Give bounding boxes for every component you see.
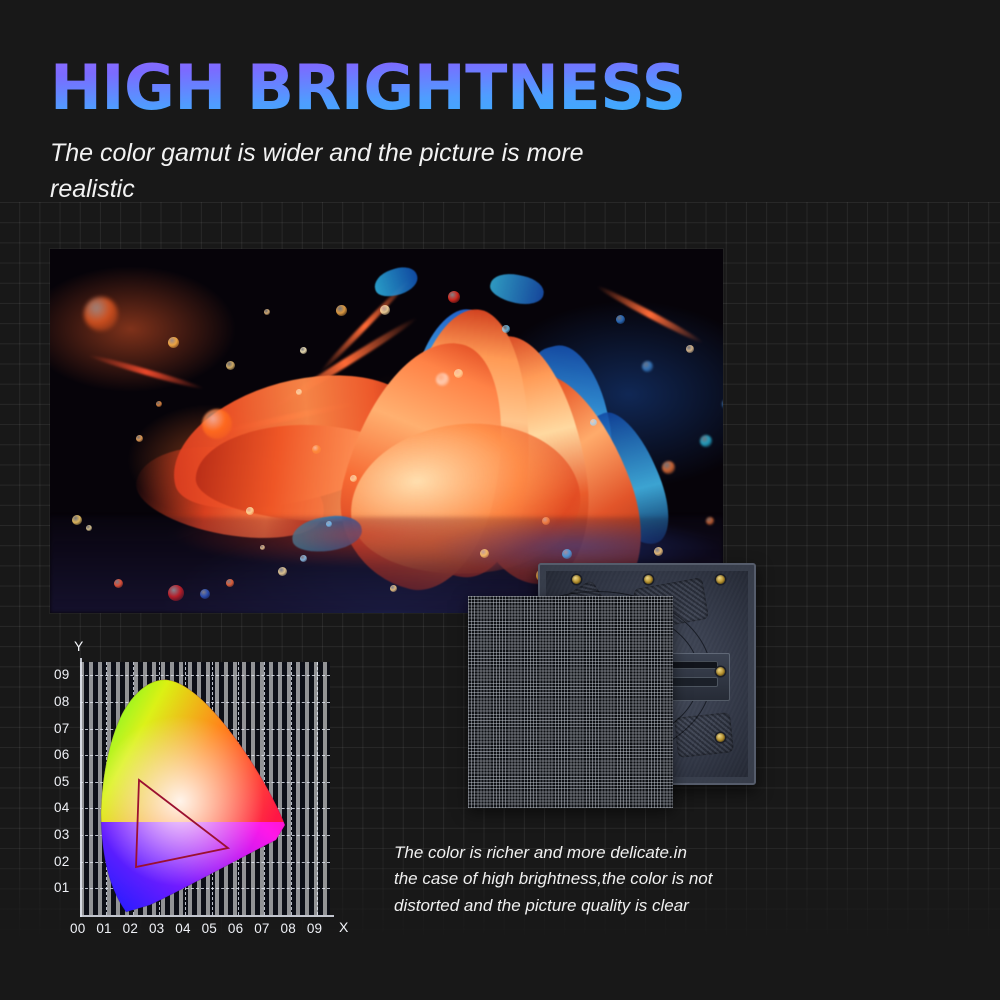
hero-bokeh-dot xyxy=(226,579,234,587)
hero-bokeh-dot xyxy=(380,305,390,315)
chart-ylabel: Y xyxy=(74,638,83,654)
chart-xtick: 09 xyxy=(307,921,322,936)
cie-gamut-horseshoe xyxy=(80,662,330,915)
hero-bokeh-dot xyxy=(706,517,714,525)
cabinet-screw xyxy=(572,575,581,584)
caption-line-2: the case of high brightness,the color is… xyxy=(394,866,754,892)
hero-bokeh-dot xyxy=(480,549,489,558)
chart-xtick: 03 xyxy=(149,921,164,936)
hero-bokeh-dot xyxy=(686,345,694,353)
chart-ytick: 06 xyxy=(54,747,69,762)
hero-bokeh-dot xyxy=(300,347,307,354)
hero-bokeh-dot xyxy=(454,369,463,378)
hero-bokeh-dot xyxy=(296,389,302,395)
hero-flower-image xyxy=(50,249,723,613)
hero-bokeh-dot xyxy=(642,361,653,372)
hero-bokeh-dot xyxy=(168,337,179,348)
hero-bokeh-dot xyxy=(168,585,184,601)
hero-bokeh-dot xyxy=(260,545,265,550)
chart-plot-area xyxy=(80,662,330,915)
chart-ytick: 08 xyxy=(54,694,69,709)
hero-bokeh-dot xyxy=(200,589,210,599)
hero-bokeh-dot xyxy=(300,555,307,562)
cabinet-screw xyxy=(716,667,725,676)
chart-xtick: 04 xyxy=(175,921,190,936)
hero-bokeh-dot xyxy=(562,549,572,559)
cabinet-rib xyxy=(674,712,734,758)
hero-bokeh-dot xyxy=(350,475,357,482)
hero-bokeh-dot xyxy=(202,409,232,439)
chart-ytick: 04 xyxy=(54,800,69,815)
hero-bokeh-dot xyxy=(336,305,347,316)
caption-line-1: The color is richer and more delicate.in xyxy=(394,840,754,866)
hero-bokeh-dot xyxy=(662,461,675,474)
chart-ytick: 01 xyxy=(54,880,69,895)
hero-bokeh-dot xyxy=(156,401,162,407)
cabinet-screw xyxy=(716,733,725,742)
hero-bokeh-dot xyxy=(136,435,143,442)
page-title: HIGH BRIGHTNESS xyxy=(50,56,750,120)
hero-bokeh-dot xyxy=(86,525,92,531)
hero-bokeh-dot xyxy=(542,517,550,525)
hero-bokeh-dot xyxy=(312,445,321,454)
chart-x-axis xyxy=(80,915,334,917)
hero-bokeh-dot xyxy=(226,361,235,370)
chart-xtick: 00 xyxy=(70,921,85,936)
hero-bokeh-dot xyxy=(616,315,625,324)
hero-bokeh-dot xyxy=(436,373,449,386)
hero-bokeh-dot xyxy=(246,507,254,515)
chart-ytick: 09 xyxy=(54,667,69,682)
hero-bokeh-dot xyxy=(84,297,118,331)
led-pixel-module-front xyxy=(468,596,673,808)
hero-bokeh-dot xyxy=(700,435,712,447)
chart-xtick: 02 xyxy=(123,921,138,936)
hero-bokeh-dot xyxy=(278,567,287,576)
chart-xtick: 01 xyxy=(96,921,111,936)
hero-bokeh-dot xyxy=(390,585,397,592)
chart-ytick: 05 xyxy=(54,774,69,789)
hero-bokeh-dot xyxy=(264,309,270,315)
hero-bokeh-dot xyxy=(448,291,460,303)
chart-y-axis xyxy=(80,658,82,917)
chart-xtick: 06 xyxy=(228,921,243,936)
page-subtitle: The color gamut is wider and the picture… xyxy=(50,136,670,207)
chart-xtick: 08 xyxy=(281,921,296,936)
cie-chromaticity-chart: Y X 010203040506070809 00010203040506070… xyxy=(62,640,352,940)
hero-bokeh-dot xyxy=(502,325,510,333)
hero-bokeh-dot xyxy=(72,515,82,525)
chart-ytick: 03 xyxy=(54,827,69,842)
hero-bokeh-dot xyxy=(590,419,597,426)
chart-ytick: 07 xyxy=(54,721,69,736)
chart-caption: The color is richer and more delicate.in… xyxy=(394,840,754,919)
chart-ytick: 02 xyxy=(54,854,69,869)
hero-bokeh-dot xyxy=(654,547,663,556)
chart-xtick: 07 xyxy=(254,921,269,936)
caption-line-3: distorted and the picture quality is cle… xyxy=(394,893,754,919)
cabinet-screw xyxy=(644,575,653,584)
cabinet-screw xyxy=(716,575,725,584)
header: HIGH BRIGHTNESS The color gamut is wider… xyxy=(50,56,750,207)
hero-bokeh-dot xyxy=(114,579,123,588)
hero-bokeh-dot xyxy=(326,521,332,527)
chart-xtick: 05 xyxy=(202,921,217,936)
chart-xlabel: X xyxy=(339,919,348,935)
